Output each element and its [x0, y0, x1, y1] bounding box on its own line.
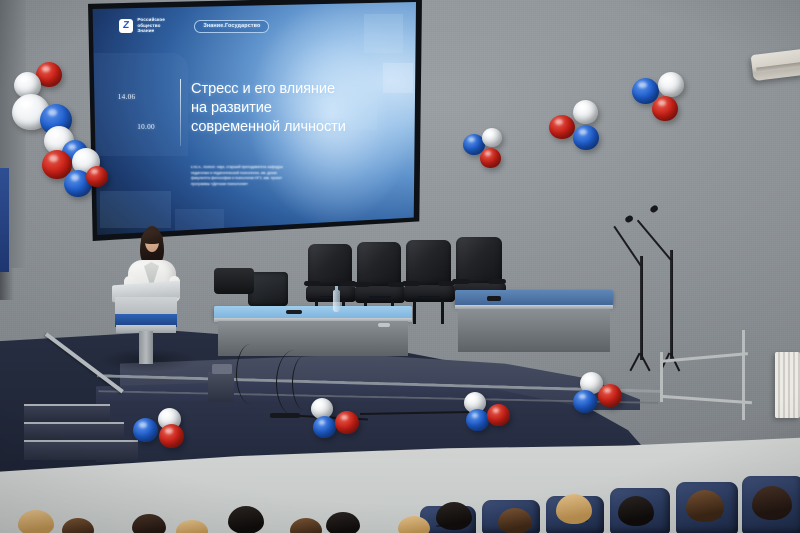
chair-arm	[488, 279, 505, 285]
organization-logo: Z Российское общество Знание	[119, 17, 165, 34]
slide-date: 14.06	[118, 93, 136, 101]
balloon-red	[652, 96, 678, 121]
balloon-red	[487, 404, 510, 426]
audience-head	[752, 486, 792, 520]
chair-seat	[355, 286, 404, 303]
stair-step	[24, 440, 138, 460]
mic-pole	[670, 250, 673, 360]
equipment-bag	[214, 268, 254, 294]
slide-title-line-3: современной личности	[191, 118, 409, 137]
stair-step	[24, 404, 110, 422]
wall-pipe-vertical	[742, 330, 745, 420]
balloon-white	[482, 128, 502, 147]
wall-radiator	[775, 352, 800, 418]
audience-head	[686, 490, 724, 522]
table-body	[458, 309, 610, 352]
slide-title-line-1: Стресс и его влияние	[191, 80, 409, 99]
mic-boom-arm	[613, 226, 642, 267]
mic-head	[649, 204, 659, 213]
balloon-blue	[573, 125, 599, 150]
monitor-screen	[248, 272, 288, 306]
stage-chair	[406, 240, 451, 318]
chair-seat	[306, 286, 355, 302]
audience-head	[18, 510, 54, 533]
balloon-white	[658, 72, 684, 97]
floor-equipment-box	[208, 372, 234, 402]
air-conditioner-unit	[751, 49, 800, 81]
balloon-red	[549, 115, 575, 139]
mic-head	[624, 214, 634, 223]
chair-arm	[452, 279, 469, 285]
logo-z-icon: Z	[119, 19, 133, 33]
floor-cable	[236, 344, 265, 404]
slide-title-line-2: на развитие	[191, 99, 409, 118]
chair-arm	[304, 281, 321, 286]
slide-time: 10.00	[137, 123, 155, 131]
chair-arm	[353, 282, 370, 287]
water-bottle	[333, 290, 340, 312]
microphone-stand-2	[640, 204, 700, 364]
stage-table-right	[455, 290, 613, 352]
speaker-hair-front	[141, 230, 163, 244]
wall-blue-accent	[0, 168, 9, 272]
balloon-red	[598, 384, 622, 407]
organization-name: Российское общество Знание	[137, 17, 165, 34]
desk-remote	[487, 296, 501, 301]
audience-head	[436, 502, 472, 530]
audience-head	[326, 512, 360, 533]
balloon-blue	[466, 409, 489, 431]
stair-step	[24, 422, 124, 440]
audience-head	[618, 496, 654, 526]
logo-letter: Z	[123, 21, 130, 31]
computer-monitor	[248, 272, 288, 306]
slide-title: Стресс и его влияние на развитие совреме…	[191, 80, 409, 137]
audience-head	[556, 494, 592, 524]
table-top	[455, 290, 613, 306]
credits-line-4: программы «Детская психология»	[191, 182, 374, 188]
balloon-white	[573, 100, 598, 124]
balloon-red	[86, 166, 108, 187]
org-name-line-1: Российское	[137, 17, 165, 23]
slide-divider	[180, 79, 181, 147]
cable-connector	[270, 413, 300, 418]
floor-equipment-lid	[212, 364, 232, 374]
chair-leg	[413, 301, 416, 324]
podium-column	[139, 331, 153, 364]
org-name-line-3: Знание	[137, 28, 165, 34]
lecture-hall-photo: Z Российское общество Знание Знание.Госу…	[0, 0, 800, 533]
desk-microphone	[286, 310, 302, 314]
audience-head	[228, 506, 264, 533]
desk-paper	[378, 323, 390, 327]
program-badge: Знание.Государство	[194, 20, 269, 33]
audience-head	[498, 508, 532, 533]
balloon-blue	[133, 418, 158, 442]
balloon-red	[335, 411, 359, 434]
balloon-red	[159, 424, 184, 448]
balloon-blue	[573, 390, 597, 413]
projection-screen: Z Российское общество Знание Знание.Госу…	[90, 2, 416, 235]
chair-seat	[404, 285, 454, 302]
chair-arm	[402, 281, 419, 286]
mic-boom-arm	[637, 219, 672, 260]
slide-speaker-credits: к.пс.н., психол. наук, старший преподава…	[191, 165, 374, 187]
chair-leg	[441, 301, 444, 324]
balloon-red	[480, 148, 501, 168]
slide-content: Z Российское общество Знание Знание.Госу…	[90, 2, 416, 235]
wall-pipe-corner	[660, 352, 663, 402]
balloon-blue	[313, 416, 336, 438]
speaker-podium	[112, 283, 180, 361]
